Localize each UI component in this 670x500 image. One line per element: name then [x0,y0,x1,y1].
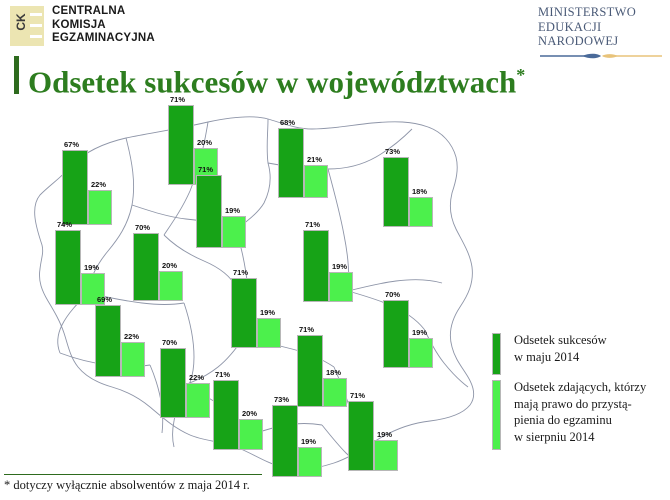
bar-light-zachodniopomorskie [88,190,112,225]
footnote-divider [4,474,262,475]
men-logo: MINISTERSTWO EDUKACJI NARODOWEJ [538,5,664,49]
bar-light-opolskie [186,383,210,418]
bar-light-mazowieckie [329,272,353,302]
cke-logo-e-bar-mid [30,24,42,27]
bar-label-light-slaskie: 20% [242,409,257,418]
bar-label-dark-podkarpackie: 71% [350,391,365,400]
bar-light-dolnoslaskie [121,342,145,377]
bar-label-dark-pomorskie: 71% [170,95,185,104]
bar-dark-dolnoslaskie [95,305,121,377]
cke-line-2: KOMISJA [52,19,155,33]
bar-group-malopolskie: 73%19% [272,405,322,477]
bar-label-light-swietokrzyskie: 18% [326,368,341,377]
bar-label-light-lubuskie: 19% [84,263,99,272]
poland-cartogram: 67%22%71%20%68%21%73%18%71%19%74%19%70%2… [0,95,500,480]
legend-label-zdajacy-line-4: w sierpniu 2014 [514,429,667,446]
men-line-2: EDUKACJI [538,20,664,35]
bar-label-light-opolskie: 22% [189,373,204,382]
bar-label-dark-kujawsko-pomorskie: 71% [198,165,213,174]
legend-label-zdajacy-line-3: pienia do egzaminu [514,412,667,429]
bar-light-lodzkie [257,318,281,348]
bar-group-opolskie: 70%22% [160,348,210,418]
bar-dark-slaskie [213,380,239,450]
bar-dark-pomorskie [168,105,194,185]
bar-label-dark-slaskie: 71% [215,370,230,379]
bar-dark-swietokrzyskie [297,335,323,407]
bar-label-light-malopolskie: 19% [301,437,316,446]
bar-group-zachodniopomorskie: 67%22% [62,150,112,225]
bar-label-dark-zachodniopomorskie: 67% [64,140,79,149]
bar-light-lubelskie [409,338,433,368]
bar-label-dark-lubuskie: 74% [57,220,72,229]
bar-group-kujawsko-pomorskie: 71%19% [196,175,246,248]
bar-label-dark-warminsko-mazurskie: 68% [280,118,295,127]
legend-swatch-light-green [492,380,501,450]
bar-dark-kujawsko-pomorskie [196,175,222,248]
bar-label-light-lodzkie: 19% [260,308,275,317]
bar-group-warminsko-mazurskie: 68%21% [278,128,328,198]
bar-label-light-kujawsko-pomorskie: 19% [225,206,240,215]
legend: Odsetek sukcesów w maju 2014 Odsetek zda… [492,332,667,459]
cke-logo-e-bar-top [30,13,42,16]
bar-group-podlaskie: 73%18% [383,157,433,227]
bar-label-dark-opolskie: 70% [162,338,177,347]
bar-dark-malopolskie [272,405,298,477]
bar-dark-wielkopolskie [133,233,159,301]
bar-light-malopolskie [298,447,322,477]
bar-group-swietokrzyskie: 71%18% [297,335,347,407]
bar-group-dolnoslaskie: 69%22% [95,305,145,377]
bar-label-light-podkarpackie: 19% [377,430,392,439]
bar-dark-lubuskie [55,230,81,305]
men-line-3: NARODOWEJ [538,34,664,49]
legend-label-sukcesy: Odsetek sukcesów w maju 2014 [514,332,667,365]
bar-light-wielkopolskie [159,271,183,301]
bar-light-slaskie [239,419,263,450]
bar-label-dark-podlaskie: 73% [385,147,400,156]
cke-line-1: CENTRALNA [52,5,155,19]
cke-logo: CK [10,6,44,46]
bar-dark-podlaskie [383,157,409,227]
bar-light-podlaskie [409,197,433,227]
bar-light-podkarpackie [374,440,398,471]
bar-label-dark-lubelskie: 70% [385,290,400,299]
legend-item-sukcesy: Odsetek sukcesów w maju 2014 [492,332,667,365]
bar-label-dark-dolnoslaskie: 69% [97,295,112,304]
cke-line-3: EGZAMINACYJNA [52,32,155,46]
bar-light-swietokrzyskie [323,378,347,407]
bar-label-dark-swietokrzyskie: 71% [299,325,314,334]
bar-label-light-warminsko-mazurskie: 21% [307,155,322,164]
bar-label-dark-mazowieckie: 71% [305,220,320,229]
bar-light-warminsko-mazurskie [304,165,328,198]
bar-light-kujawsko-pomorskie [222,216,246,248]
bar-label-dark-malopolskie: 73% [274,395,289,404]
legend-label-zdajacy: Odsetek zdających, którzy mają prawo do … [514,379,667,445]
bar-dark-opolskie [160,348,186,418]
bar-label-light-lubelskie: 19% [412,328,427,337]
men-wordmark: MINISTERSTWO EDUKACJI NARODOWEJ [538,5,664,49]
cke-wordmark: CENTRALNA KOMISJA EGZAMINACYJNA [52,5,155,46]
bar-label-dark-lodzkie: 71% [233,268,248,277]
page-title-asterisk: * [516,65,525,85]
bar-dark-zachodniopomorskie [62,150,88,225]
legend-label-zdajacy-line-2: mają prawo do przystą- [514,396,667,413]
bar-group-mazowieckie: 71%19% [303,230,353,302]
bar-label-light-wielkopolskie: 20% [162,261,177,270]
bar-label-light-pomorskie: 20% [197,138,212,147]
cke-logo-e-bar-bottom [30,35,42,38]
bar-group-wielkopolskie: 70%20% [133,233,183,301]
bar-dark-lodzkie [231,278,257,348]
bar-label-light-dolnoslaskie: 22% [124,332,139,341]
bar-label-light-zachodniopomorskie: 22% [91,180,106,189]
bar-label-light-podlaskie: 18% [412,187,427,196]
bar-label-dark-wielkopolskie: 70% [135,223,150,232]
title-accent-bar [14,56,19,94]
bar-group-podkarpackie: 71%19% [348,401,398,471]
men-logo-swoosh-icon [538,52,664,60]
cke-logo-mark: CK [14,5,28,39]
bar-group-lubuskie: 74%19% [55,230,105,305]
bar-dark-mazowieckie [303,230,329,302]
bar-group-lodzkie: 71%19% [231,278,281,348]
page-header: CK CENTRALNA KOMISJA EGZAMINACYJNA MINIS… [0,0,670,52]
legend-item-zdajacy: Odsetek zdających, którzy mają prawo do … [492,379,667,445]
legend-label-zdajacy-line-1: Odsetek zdających, którzy [514,379,667,396]
legend-swatch-dark-green [492,333,501,375]
bar-group-slaskie: 71%20% [213,380,263,450]
legend-label-sukcesy-line-2: w maju 2014 [514,349,667,366]
bar-group-lubelskie: 70%19% [383,300,433,368]
bar-dark-podkarpackie [348,401,374,471]
bar-dark-lubelskie [383,300,409,368]
bar-dark-warminsko-mazurskie [278,128,304,198]
bar-label-light-mazowieckie: 19% [332,262,347,271]
legend-label-sukcesy-line-1: Odsetek sukcesów [514,332,667,349]
footnote: * dotyczy wyłącznie absolwentów z maja 2… [4,478,250,493]
men-line-1: MINISTERSTWO [538,5,664,20]
